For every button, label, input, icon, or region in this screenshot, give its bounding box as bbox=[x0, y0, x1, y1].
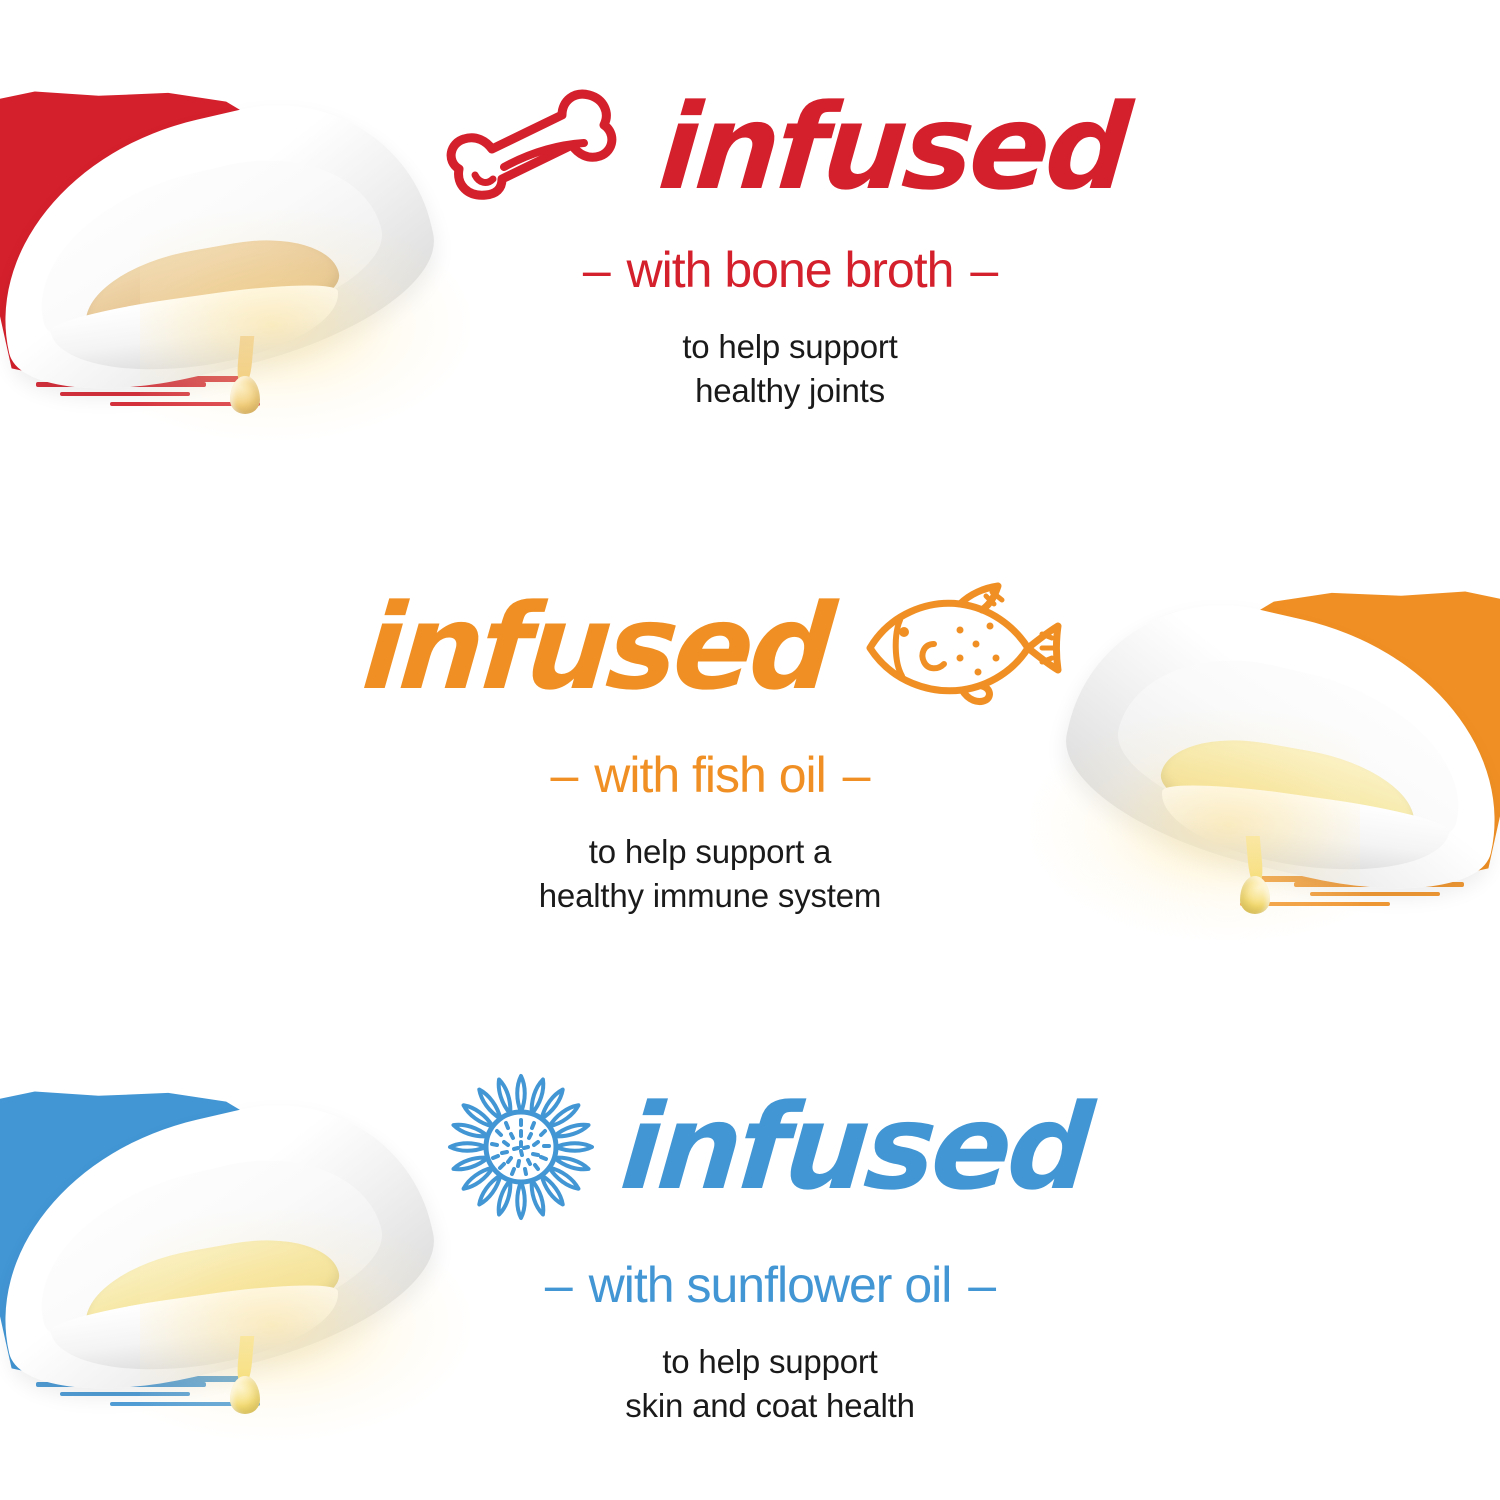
body-line: skin and coat health bbox=[625, 1384, 915, 1428]
spoon-artwork-bone-broth bbox=[0, 0, 520, 500]
dash-left: – bbox=[547, 747, 582, 803]
body-copy: to help support healthy joints bbox=[682, 325, 897, 412]
white-spoon bbox=[0, 1120, 450, 1450]
dash-left: – bbox=[579, 242, 614, 298]
sunflower-icon bbox=[446, 1072, 596, 1222]
spoon-artwork-sunflower-oil bbox=[0, 1000, 520, 1500]
headline-row: infused bbox=[444, 87, 1127, 207]
white-spoon bbox=[1050, 620, 1500, 950]
body-line: to help support a bbox=[539, 830, 881, 874]
subline: – with sunflower oil – bbox=[541, 1256, 999, 1314]
liquid-droplet bbox=[230, 376, 260, 414]
text-block-bone-broth: infused – with bone broth – to help supp… bbox=[470, 0, 1110, 500]
subline-text: with fish oil bbox=[594, 747, 826, 803]
dash-right: – bbox=[964, 1257, 999, 1313]
body-copy: to help support skin and coat health bbox=[625, 1340, 915, 1427]
panel-fish-oil: infused bbox=[0, 500, 1500, 1000]
subline-text: with sunflower oil bbox=[589, 1257, 952, 1313]
text-block-fish-oil: infused bbox=[390, 500, 1030, 1000]
fish-icon bbox=[856, 582, 1066, 712]
text-block-sunflower-oil: infused – with sunflower oil – to help s… bbox=[450, 1000, 1090, 1500]
headline-text: infused bbox=[359, 593, 835, 702]
body-copy: to help support a healthy immune system bbox=[539, 830, 881, 917]
liquid-droplet bbox=[230, 1376, 260, 1414]
panel-bone-broth: infused – with bone broth – to help supp… bbox=[0, 0, 1500, 500]
headline-row: infused bbox=[364, 582, 1067, 712]
subline-text: with bone broth bbox=[627, 242, 954, 298]
white-spoon bbox=[0, 120, 450, 450]
subline: – with fish oil – bbox=[547, 746, 874, 804]
body-line: to help support bbox=[625, 1340, 915, 1384]
liquid-droplet bbox=[1240, 876, 1270, 914]
body-line: healthy joints bbox=[682, 369, 897, 413]
body-line: to help support bbox=[682, 325, 897, 369]
headline-text: infused bbox=[655, 93, 1131, 202]
spoon-artwork-fish-oil bbox=[980, 500, 1500, 1000]
bone-icon bbox=[444, 87, 634, 207]
subline: – with bone broth – bbox=[579, 241, 1001, 299]
panel-sunflower-oil: infused – with sunflower oil – to help s… bbox=[0, 1000, 1500, 1500]
body-line: healthy immune system bbox=[539, 874, 881, 918]
dash-right: – bbox=[839, 747, 874, 803]
headline-row: infused bbox=[446, 1072, 1089, 1222]
dash-right: – bbox=[966, 242, 1001, 298]
headline-text: infused bbox=[617, 1093, 1093, 1202]
dash-left: – bbox=[541, 1257, 576, 1313]
infused-benefits-graphic: infused – with bone broth – to help supp… bbox=[0, 0, 1500, 1500]
